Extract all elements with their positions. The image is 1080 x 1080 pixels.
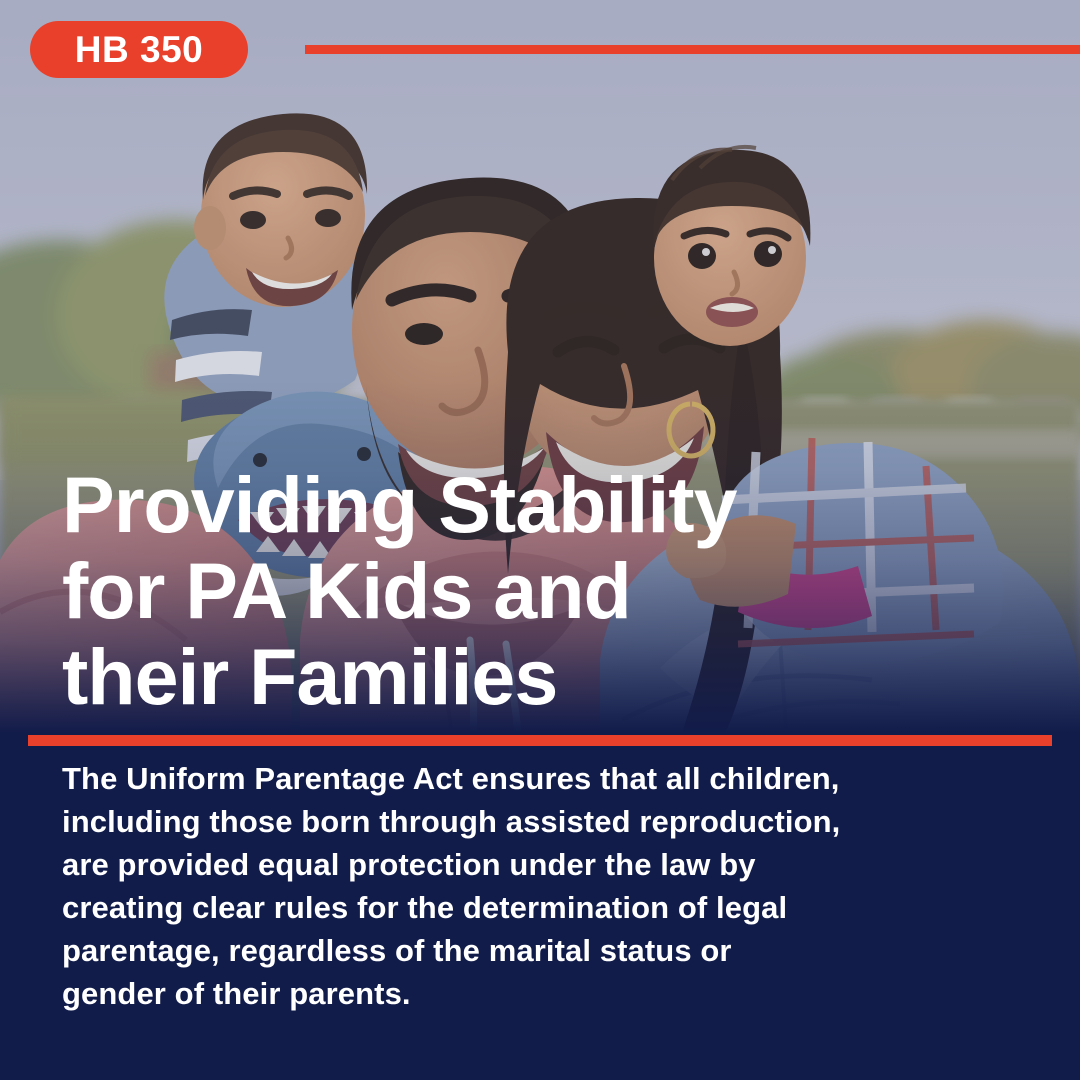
bill-number-label: HB 350	[75, 31, 203, 68]
body-line-4: creating clear rules for the determinati…	[62, 886, 1022, 929]
body-line-2: including those born through assisted re…	[62, 800, 1022, 843]
description-text: The Uniform Parentage Act ensures that a…	[62, 757, 1022, 1015]
top-accent-rule	[305, 45, 1080, 54]
headline-line-3: their Families	[62, 634, 1022, 720]
bottom-accent-rule	[28, 735, 1052, 746]
body-line-6: gender of their parents.	[62, 972, 1022, 1015]
headline-line-2: for PA Kids and	[62, 548, 1022, 634]
headline-line-1: Providing Stability	[62, 462, 1022, 548]
bill-number-badge: HB 350	[30, 21, 248, 78]
page-title: Providing Stability for PA Kids and thei…	[62, 462, 1022, 720]
body-line-3: are provided equal protection under the …	[62, 843, 1022, 886]
social-graphic-card: HB 350 Providing Stability for PA Kids a…	[0, 0, 1080, 1080]
body-line-5: parentage, regardless of the marital sta…	[62, 929, 1022, 972]
body-line-1: The Uniform Parentage Act ensures that a…	[62, 757, 1022, 800]
